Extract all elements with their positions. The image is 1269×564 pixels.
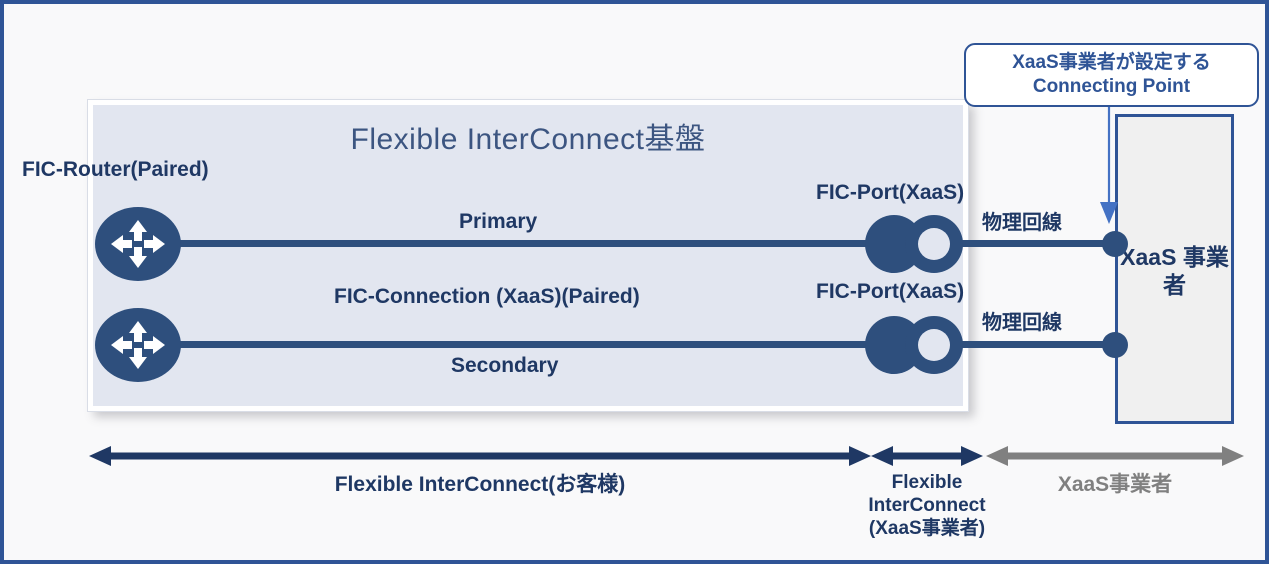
- scope-arrow-fic-xaas: [871, 444, 983, 468]
- physical-line-bottom: [942, 341, 1120, 348]
- router-icon-secondary[interactable]: [95, 308, 181, 382]
- scope-label-customer: Flexible InterConnect(お客様): [89, 472, 871, 497]
- secondary-connection-line: [164, 341, 886, 348]
- scope-arrow-customer: [89, 444, 871, 468]
- fic-port-bottom-label: FIC-Port(XaaS): [816, 280, 964, 305]
- secondary-label: Secondary: [451, 354, 558, 379]
- scope-arrow-xaas-provider: [986, 444, 1244, 468]
- xaas-provider-label: XaaS 事業者: [1118, 243, 1231, 299]
- diagram-canvas: Flexible InterConnect基盤 FIC-Router(Paire…: [0, 0, 1269, 564]
- fic-platform-title: Flexible InterConnect基盤: [93, 114, 963, 158]
- router-arrows-icon: [95, 207, 181, 281]
- router-icon-primary[interactable]: [95, 207, 181, 281]
- fic-router-label: FIC-Router(Paired): [22, 158, 209, 183]
- connecting-point-callout: XaaS事業者が設定する Connecting Point: [964, 43, 1259, 107]
- physical-line-bottom-label: 物理回線: [982, 312, 1062, 336]
- port-ring-circle: [905, 215, 963, 273]
- scope-label-fic-xaas: Flexible InterConnect (XaaS事業者): [849, 472, 1005, 540]
- xaas-provider-box: XaaS 事業者: [1115, 114, 1234, 424]
- scope-label-xaas-provider: XaaS事業者: [986, 472, 1244, 497]
- port-ring-circle: [905, 316, 963, 374]
- router-arrows-icon: [95, 308, 181, 382]
- physical-line-top: [942, 240, 1120, 247]
- fic-port-icon-bottom[interactable]: [865, 316, 963, 374]
- connecting-point-dot-top[interactable]: [1102, 231, 1128, 257]
- callout-down-arrow-icon: [1098, 107, 1120, 225]
- connecting-point-callout-text: XaaS事業者が設定する Connecting Point: [1012, 51, 1210, 99]
- fic-connection-label: FIC-Connection (XaaS)(Paired): [334, 285, 640, 310]
- fic-port-top-label: FIC-Port(XaaS): [816, 181, 964, 206]
- primary-connection-line: [164, 240, 886, 247]
- fic-port-icon-top[interactable]: [865, 215, 963, 273]
- physical-line-top-label: 物理回線: [982, 212, 1062, 236]
- connecting-point-dot-bottom[interactable]: [1102, 332, 1128, 358]
- primary-label: Primary: [459, 210, 537, 235]
